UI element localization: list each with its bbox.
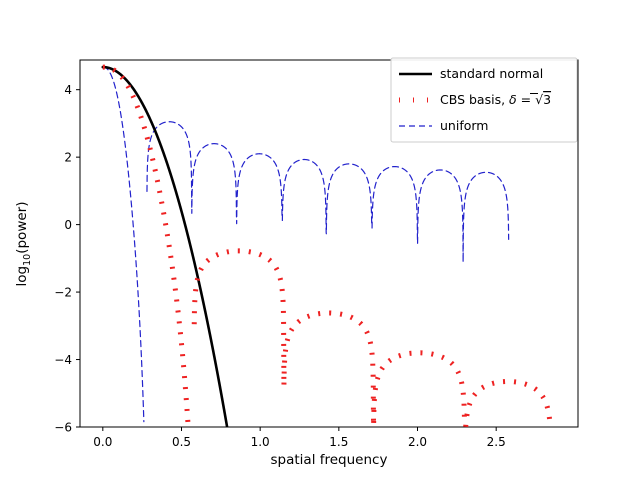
plot-svg bbox=[0, 0, 640, 480]
curve-cbs-basis bbox=[103, 67, 550, 427]
axes-ticks bbox=[76, 90, 496, 431]
curve-uniform bbox=[103, 67, 509, 422]
axes-spines bbox=[80, 60, 578, 427]
figure-canvas: 0.00.51.01.52.02.5−6−4−2024 spatial freq… bbox=[0, 0, 640, 480]
curve-standard-normal bbox=[103, 67, 227, 426]
data-curves bbox=[103, 67, 550, 427]
